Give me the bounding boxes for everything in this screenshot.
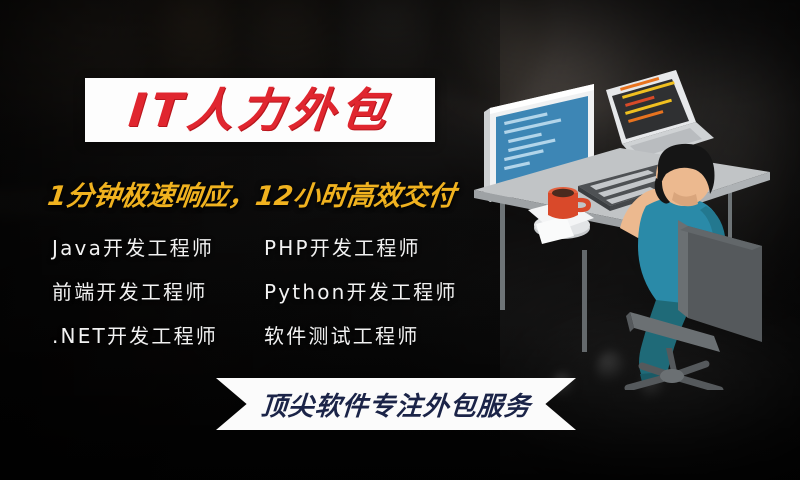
bottom-ribbon-banner: 顶尖软件专注外包服务 <box>216 378 576 430</box>
service-item-frontend: 前端开发工程师 <box>52 276 264 305</box>
ribbon-label: 顶尖软件专注外包服务 <box>214 378 578 430</box>
poster-root: IT人力外包 1分钟极速响应，12小时高效交付 Java开发工程师 PHP开发工… <box>0 0 800 480</box>
service-item-dotnet: .NET开发工程师 <box>52 320 264 349</box>
developer-illustration <box>470 60 800 390</box>
page-title: IT人力外包 <box>126 87 393 133</box>
service-item-php: PHP开发工程师 <box>264 232 492 261</box>
service-item-java: Java开发工程师 <box>52 232 264 261</box>
service-item-python: Python开发工程师 <box>264 276 492 305</box>
service-list: Java开发工程师 PHP开发工程师 前端开发工程师 Python开发工程师 .… <box>52 224 492 356</box>
service-item-testing: 软件测试工程师 <box>264 320 492 349</box>
subtitle-tagline: 1分钟极速响应，12小时高效交付 <box>46 174 458 213</box>
title-banner: IT人力外包 <box>85 78 435 142</box>
